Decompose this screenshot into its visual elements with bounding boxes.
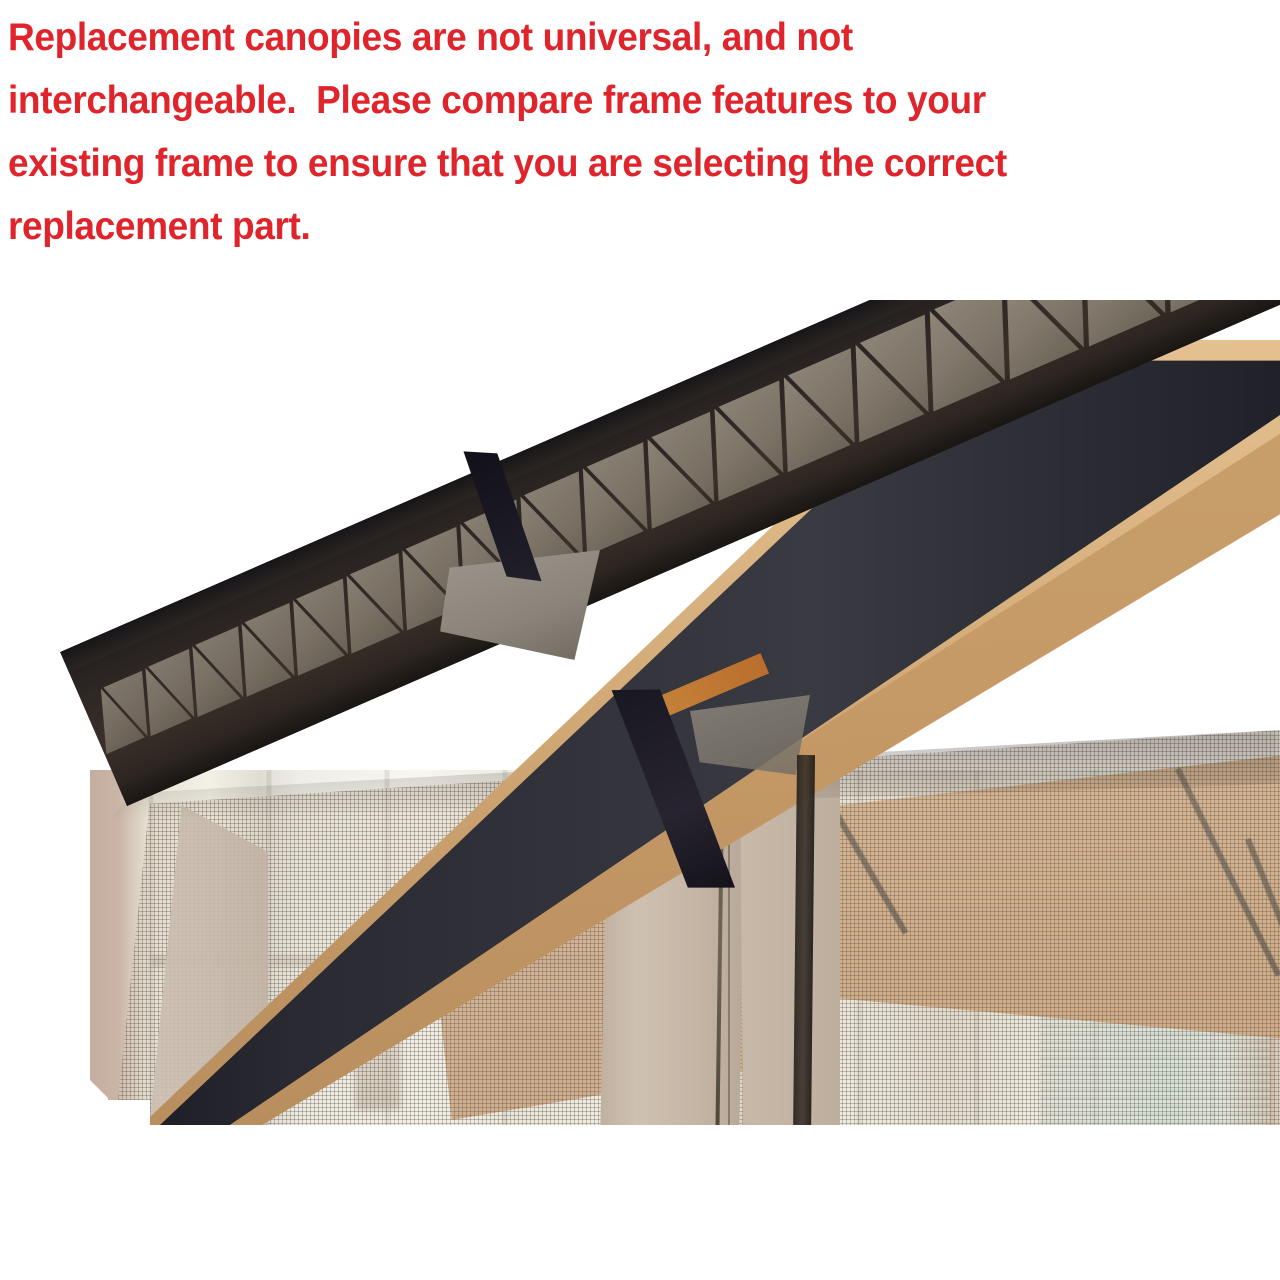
decorative-lattice-valance	[60, 300, 1280, 955]
warning-text-block: Replacement canopies are not universal, …	[8, 6, 1258, 258]
warning-line-2: interchangeable. Please compare frame fe…	[8, 69, 1196, 132]
warning-line-3: existing frame to ensure that you are se…	[8, 132, 1196, 195]
warning-line-1: Replacement canopies are not universal, …	[8, 6, 1196, 69]
page-root: Replacement canopies are not universal, …	[0, 0, 1280, 1280]
gazebo-product-photo	[0, 300, 1280, 1140]
photo-bottom-crop-mask	[0, 1125, 1280, 1140]
warning-line-4: replacement part.	[8, 195, 1196, 258]
